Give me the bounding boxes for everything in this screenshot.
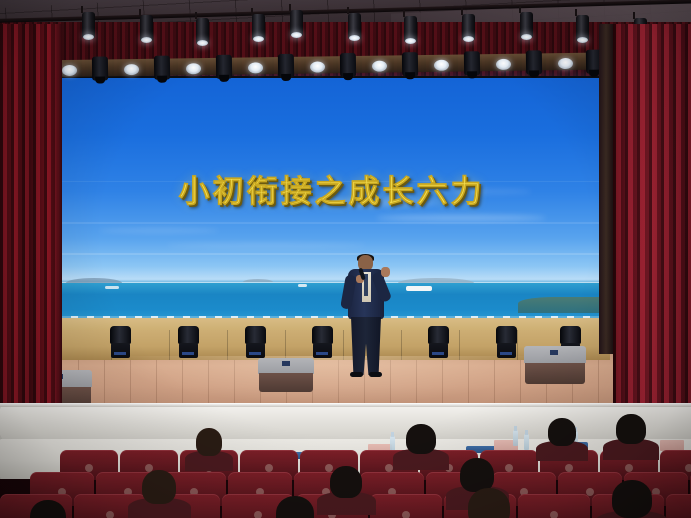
audience-member-head [196, 428, 222, 456]
presenter-figure [340, 255, 392, 377]
mover-base [179, 343, 198, 358]
cloud-icon [376, 215, 546, 221]
presenter-shoe [369, 372, 382, 377]
audience-member-head [616, 414, 646, 444]
stage-curtain-right [613, 24, 691, 420]
led-screen: 小初衔接之成长六力 [55, 78, 608, 336]
mover-badge [316, 352, 328, 355]
spotlight-lens [83, 34, 94, 40]
mover-base [429, 343, 448, 358]
mover-badge [500, 352, 512, 355]
mover-base [246, 343, 265, 358]
presenter-trousers [351, 317, 381, 375]
floor-moving-head-icon [245, 326, 266, 360]
spotlight-lens [577, 37, 588, 43]
spotlight-lens [197, 40, 208, 46]
slide-title: 小初衔接之成长六力 [55, 166, 608, 211]
spotlight-lens [463, 36, 474, 42]
auditorium-seat [370, 494, 442, 518]
floor-moving-head-icon [110, 326, 131, 360]
curtain-edge-left [55, 24, 62, 424]
mover-base [497, 343, 516, 358]
stage-edge-lip [0, 403, 691, 407]
floor-moving-head-icon [428, 326, 449, 360]
water-bottle-icon [513, 430, 518, 446]
audience-seating [0, 432, 691, 518]
mover-head [560, 326, 581, 344]
presenter-shoe [350, 372, 363, 377]
screen-scanline [55, 253, 608, 255]
island-shape [66, 278, 122, 283]
moving-head-light-icon [92, 56, 108, 80]
stage-monitor-speaker [258, 358, 314, 392]
boat-icon [298, 284, 307, 287]
auditorium-seat [666, 494, 691, 518]
moving-head-light-icon [340, 53, 356, 77]
audience-member-head [548, 418, 576, 446]
mover-head [178, 326, 199, 344]
water-bottle-icon [524, 434, 529, 450]
mover-badge [249, 352, 261, 355]
audience-member-head [330, 466, 362, 498]
spotlight-lens [291, 32, 302, 38]
audience-member-head [406, 424, 436, 454]
floor-moving-head-icon [312, 326, 333, 360]
cloud-icon [166, 243, 366, 248]
mover-badge [182, 352, 194, 355]
audience-member-head [468, 488, 510, 518]
stage-curtain-left [0, 24, 62, 424]
spotlight-lens [521, 34, 532, 40]
moving-head-light-icon [216, 55, 232, 79]
mover-base [313, 343, 332, 358]
mover-badge [432, 352, 444, 355]
monitor-logo [282, 361, 290, 366]
monitor-logo [550, 350, 558, 355]
mover-head [428, 326, 449, 344]
led-screen-frame: 小初衔接之成长六力 [53, 76, 610, 338]
moving-head-light-icon [402, 52, 418, 76]
moving-head-light-icon [278, 54, 294, 78]
spotlight-lens [253, 36, 264, 42]
stage-monitor-speaker [524, 346, 586, 384]
boat-icon [105, 286, 119, 289]
mover-head [245, 326, 266, 344]
floor-moving-head-icon [496, 326, 517, 360]
audience-member-head [460, 458, 494, 492]
spotlight-lens [405, 38, 416, 44]
spotlight-lens [349, 35, 360, 41]
boat-icon [406, 286, 432, 291]
cloud-icon [99, 228, 219, 233]
moving-head-light-icon [526, 50, 542, 74]
floor-moving-head-icon [178, 326, 199, 360]
floor-light-reflection [120, 356, 540, 404]
audience-member-head [142, 470, 176, 504]
presenter-right-hand [381, 267, 390, 277]
auditorium-photo: 小初衔接之成长六力 [0, 0, 691, 518]
mover-badge [114, 352, 126, 355]
monitor-front-grille [525, 363, 585, 384]
screen-scanline [55, 222, 608, 224]
mover-head [496, 326, 517, 344]
mover-head [312, 326, 333, 344]
moving-head-light-icon [154, 56, 170, 80]
moving-head-light-icon [464, 51, 480, 75]
proscenium-edge-right [599, 24, 613, 354]
monitor-front-grille [259, 373, 313, 392]
coastline-vegetation [518, 297, 608, 313]
spotlight-lens [141, 37, 152, 43]
audience-member-head [612, 480, 652, 518]
mover-head [110, 326, 131, 344]
mover-base [111, 343, 130, 358]
auditorium-seat [518, 494, 590, 518]
